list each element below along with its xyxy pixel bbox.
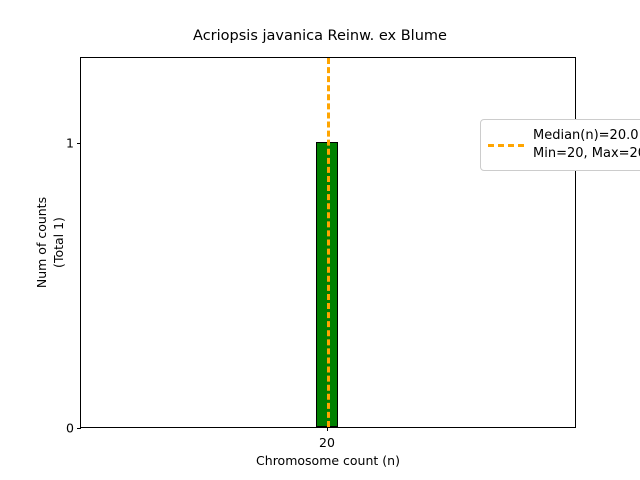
legend-labels: Median(n)=20.0 Min=20, Max=20 <box>533 127 640 163</box>
y-axis-label-line2: (Total 1) <box>50 217 67 268</box>
legend-label-median: Median(n)=20.0 <box>533 127 640 145</box>
y-axis-label-line1: Num of counts <box>33 197 50 288</box>
median-line <box>327 58 330 427</box>
bars-layer <box>81 58 575 427</box>
ytick-label-0: 0 <box>66 421 74 436</box>
x-axis-label: Chromosome count (n) <box>80 453 576 468</box>
legend-label-minmax: Min=20, Max=20 <box>533 145 640 163</box>
ytick-mark-1 <box>77 143 81 144</box>
chart-title: Acriopsis javanica Reinw. ex Blume <box>0 28 640 44</box>
xtick-label-20: 20 <box>319 435 335 450</box>
plot-area: 0 1 20 Median(n)=20.0 Min=20, Max=20 <box>80 57 576 428</box>
legend-row: Median(n)=20.0 Min=20, Max=20 <box>488 127 640 163</box>
median-line-swatch <box>488 144 524 147</box>
xtick-mark-20 <box>327 427 328 431</box>
ytick-mark-0 <box>77 428 81 429</box>
ytick-label-1: 1 <box>66 136 74 151</box>
chart-figure: Acriopsis javanica Reinw. ex Blume 0 1 2… <box>0 0 640 480</box>
chart-legend: Median(n)=20.0 Min=20, Max=20 <box>480 119 640 171</box>
y-axis-label: Num of counts (Total 1) <box>33 57 67 428</box>
